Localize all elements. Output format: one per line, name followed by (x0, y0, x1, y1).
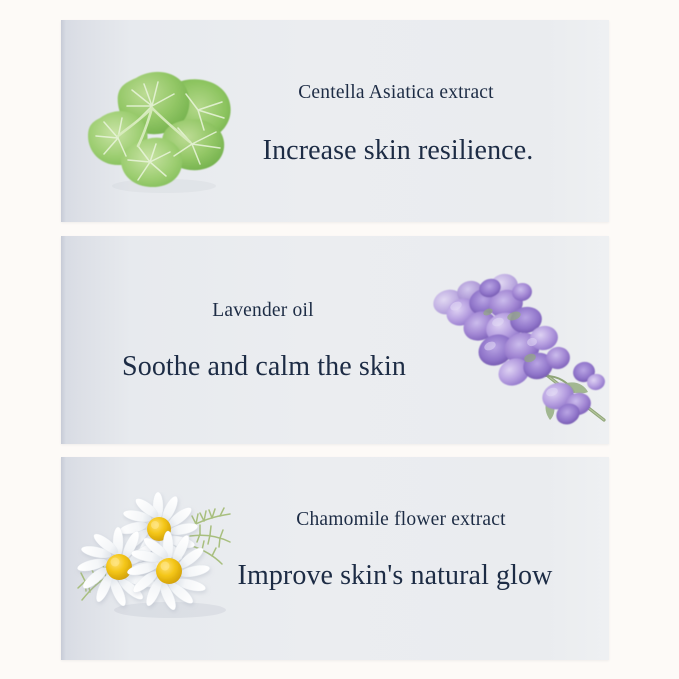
benefit-text-centella: Increase skin resilience. (213, 136, 583, 165)
ingredient-panel-centella (61, 20, 609, 222)
benefit-text-chamomile: Improve skin's natural glow (200, 561, 590, 590)
ingredient-benefit-infographic: Centella Asiatica extract Increase skin … (0, 0, 679, 679)
ingredient-panel-lavender (61, 236, 609, 444)
ingredient-name-lavender: Lavender oil (118, 301, 408, 321)
ingredient-panel-chamomile (61, 457, 609, 660)
benefit-text-lavender: Soothe and calm the skin (74, 352, 454, 381)
ingredient-name-centella: Centella Asiatica extract (246, 83, 546, 103)
ingredient-name-chamomile: Chamomile flower extract (251, 510, 551, 530)
